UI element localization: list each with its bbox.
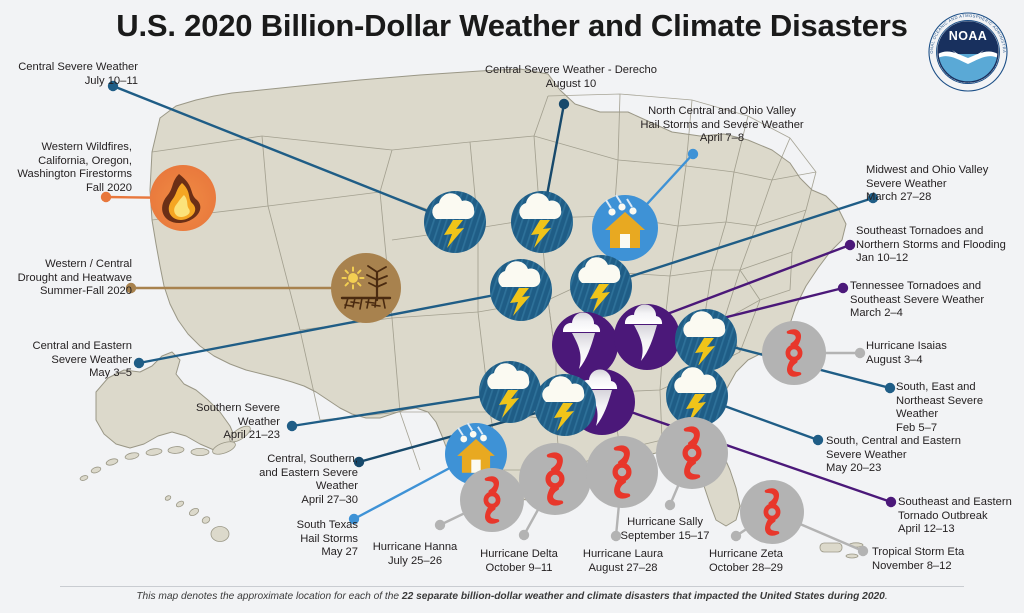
connector-dot — [435, 520, 445, 530]
hurricane-icon[interactable] — [762, 321, 826, 385]
connector-dot — [349, 514, 359, 524]
tornado-icon[interactable] — [552, 312, 618, 378]
connector-dot — [845, 240, 855, 250]
wildfire-icon[interactable] — [150, 165, 216, 231]
disaster-map — [0, 0, 1024, 613]
hurricane-icon[interactable] — [586, 436, 658, 508]
hurricane-icon[interactable] — [460, 468, 524, 532]
map-infographic: U.S. 2020 Billion-Dollar Weather and Cli… — [0, 0, 1024, 613]
hurricane-icon[interactable] — [656, 417, 728, 489]
severe-storm-icon[interactable] — [479, 361, 541, 423]
connector-dot — [858, 546, 868, 556]
connector-dot — [665, 500, 675, 510]
hurricane-icon[interactable] — [519, 443, 591, 515]
connector-dot — [886, 497, 896, 507]
connector-dot — [813, 435, 823, 445]
hail-icon[interactable] — [592, 195, 658, 261]
tornado-icon[interactable] — [614, 304, 680, 370]
footer-suffix: . — [885, 591, 888, 602]
severe-storm-icon[interactable] — [570, 255, 632, 317]
connector-dot — [108, 81, 118, 91]
connector-dot — [354, 457, 364, 467]
connector-dot — [134, 358, 144, 368]
hurricane-icon[interactable] — [740, 480, 804, 544]
connector-dot — [855, 348, 865, 358]
footer-note: This map denotes the approximate locatio… — [0, 591, 1024, 602]
connector-dot — [885, 383, 895, 393]
severe-storm-icon[interactable] — [490, 259, 552, 321]
connector-dot — [688, 149, 698, 159]
footer-divider — [60, 586, 964, 587]
connector-dot — [611, 531, 621, 541]
severe-storm-icon[interactable] — [511, 191, 573, 253]
connector-dot — [287, 421, 297, 431]
connector-dot — [101, 192, 111, 202]
connector-dot — [868, 193, 878, 203]
drought-icon[interactable] — [331, 253, 401, 323]
connector-dot — [126, 283, 136, 293]
connector-dot — [559, 99, 569, 109]
footer-prefix: This map denotes the approximate locatio… — [136, 591, 402, 602]
footer-highlight: 22 separate billion-dollar weather and c… — [402, 591, 885, 602]
severe-storm-icon[interactable] — [675, 309, 737, 371]
connector-dot — [731, 531, 741, 541]
severe-storm-icon[interactable] — [534, 374, 596, 436]
severe-storm-icon[interactable] — [424, 191, 486, 253]
connector-dot — [519, 530, 529, 540]
connector-dot — [838, 283, 848, 293]
